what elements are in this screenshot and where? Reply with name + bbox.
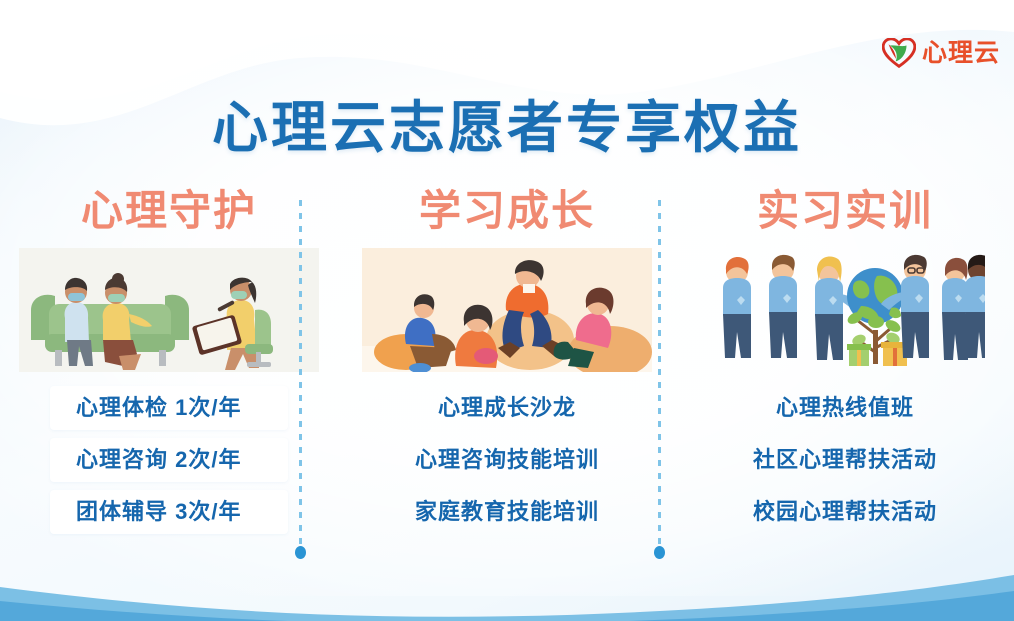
- benefit-item-list: 心理成长沙龙 心理咨询技能培训 家庭教育技能培训: [338, 386, 676, 534]
- column-divider-1: [299, 200, 302, 548]
- volunteers-globe-illustration: [705, 248, 985, 372]
- logo-text: 心理云: [922, 41, 1000, 66]
- benefit-column-learning-growth: 学习成长: [338, 176, 676, 566]
- benefit-item-list: 心理体检 1次/年 心理咨询 2次/年 团体辅导 3次/年: [0, 386, 338, 534]
- benefit-item: 团体辅导 3次/年: [50, 490, 288, 534]
- benefit-item: 心理咨询 2次/年: [50, 438, 288, 482]
- heart-leaf-icon: [882, 38, 916, 68]
- benefit-item: 社区心理帮扶活动: [743, 438, 947, 482]
- column-heading: 心理守护: [81, 190, 257, 232]
- poster-canvas: 心理云 心理云志愿者专享权益 心理守护: [0, 0, 1014, 621]
- benefit-item: 家庭教育技能培训: [405, 490, 609, 534]
- page-title: 心理云志愿者专享权益: [0, 96, 1014, 160]
- benefit-item: 校园心理帮扶活动: [743, 490, 947, 534]
- counseling-session-illustration: [19, 248, 319, 372]
- benefit-column-psychological-protection: 心理守护: [0, 176, 338, 566]
- benefit-item: 心理热线值班: [766, 386, 924, 430]
- divider-end-dot: [295, 546, 306, 559]
- brand-logo: 心理云: [882, 38, 1000, 68]
- column-heading: 实习实训: [757, 190, 933, 232]
- benefit-item: 心理体检 1次/年: [50, 386, 288, 430]
- benefit-column-internship-training: 实习实训: [676, 176, 1014, 566]
- benefit-item-list: 心理热线值班 社区心理帮扶活动 校园心理帮扶活动: [676, 386, 1014, 534]
- group-salon-illustration: [362, 248, 652, 372]
- column-divider-2: [658, 200, 661, 548]
- divider-end-dot: [654, 546, 665, 559]
- column-heading: 学习成长: [419, 190, 595, 232]
- benefit-item: 心理咨询技能培训: [405, 438, 609, 482]
- benefit-item: 心理成长沙龙: [428, 386, 586, 430]
- benefits-columns: 心理守护: [0, 176, 1014, 566]
